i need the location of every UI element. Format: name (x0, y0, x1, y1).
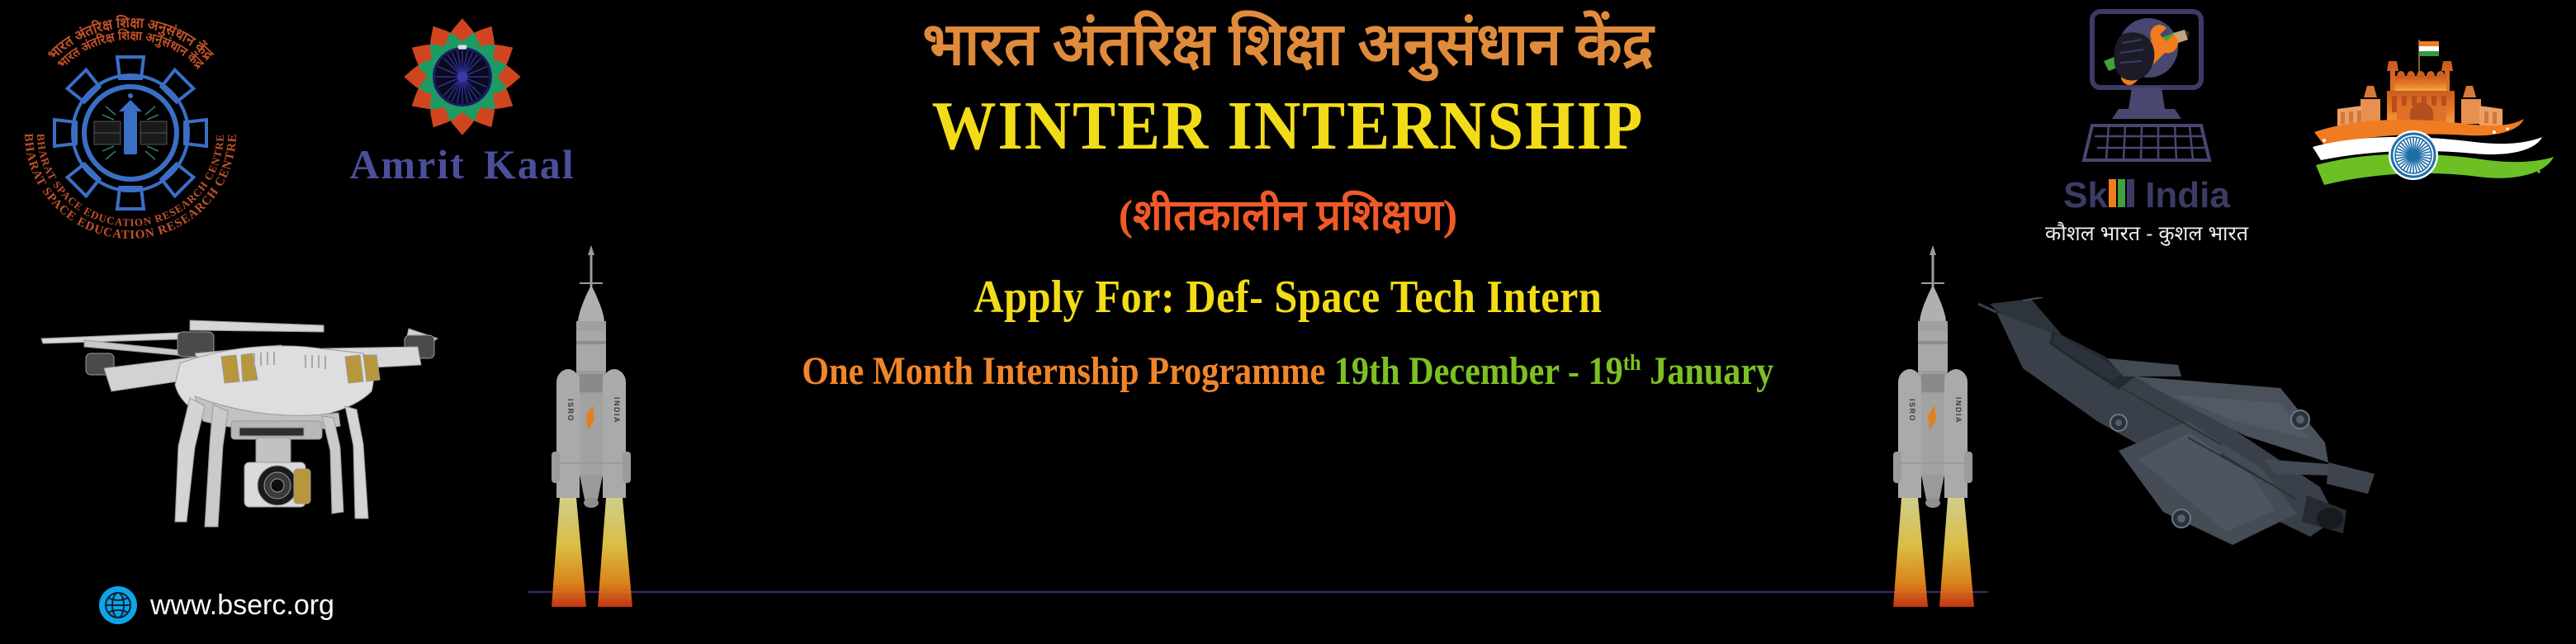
rafale-fighter-jet (1973, 297, 2452, 570)
rocket-booster-label-india: INDIA (1954, 397, 1963, 424)
skill-india-bar-orange (2109, 179, 2116, 207)
skill-india-word-india: India (2145, 178, 2230, 214)
programme-duration-text: One Month Internship Programme 19th Dece… (802, 348, 1773, 394)
amrit-label: Amrit (349, 141, 466, 187)
page-title-english: WINTER INTERNSHIP (932, 92, 1645, 161)
banner-text-block: भारत अंतरिक्ष शिक्षा अनुसंधान केंद्र WIN… (627, 0, 1949, 644)
amrit-kaal-logo: AmritKaal (322, 15, 603, 205)
website-link[interactable]: www.bserc.org (99, 586, 334, 624)
skill-india-logo: Sk India कौशल भारत - कुशल भारत (2027, 7, 2266, 304)
skill-india-tagline: कौशल भारत - कुशल भारत (2045, 219, 2248, 247)
skill-india-bar-navy (2127, 179, 2134, 207)
internship-banner: भारत अंतरिक्ष शिक्षा अनुसंधान केंद्र भार… (0, 0, 2576, 644)
apply-for-text: Apply For: Def- Space Tech Intern (973, 271, 1602, 324)
rocket-booster-label-india: INDIA (613, 397, 621, 424)
rocket-booster-label-isro: ISRO (566, 399, 575, 422)
page-subtitle-hindi: (शीतकालीन प्रशिक्षण) (1119, 184, 1457, 243)
skill-india-bar-green (2118, 179, 2125, 207)
globe-icon (99, 586, 137, 624)
programme-date-start: 19th December - 19 (1334, 349, 1623, 393)
programme-duration-label: One Month Internship Programme (802, 349, 1334, 393)
programme-date-suffix: th (1623, 350, 1641, 376)
skill-india-wordmark: Sk India (2063, 178, 2230, 214)
programme-date-end: January (1641, 349, 1774, 393)
quadcopter-drone (33, 305, 446, 553)
skill-india-word-sk: Sk (2063, 178, 2108, 214)
kaal-label: Kaal (484, 141, 575, 187)
red-fort-tricolor-emblem (2291, 0, 2572, 206)
amrit-kaal-label: AmritKaal (349, 140, 575, 188)
page-title-hindi: भारत अंतरिक्ष शिक्षा अनुसंधान केंद्र (922, 12, 1653, 78)
skill-india-monitor-icon (2072, 7, 2221, 176)
bserc-emblem: भारत अंतरिक्ष शिक्षा अनुसंधान केंद्र भार… (7, 5, 254, 244)
lotus-chakra-icon (400, 15, 524, 139)
website-url-text: www.bserc.org (150, 590, 334, 622)
